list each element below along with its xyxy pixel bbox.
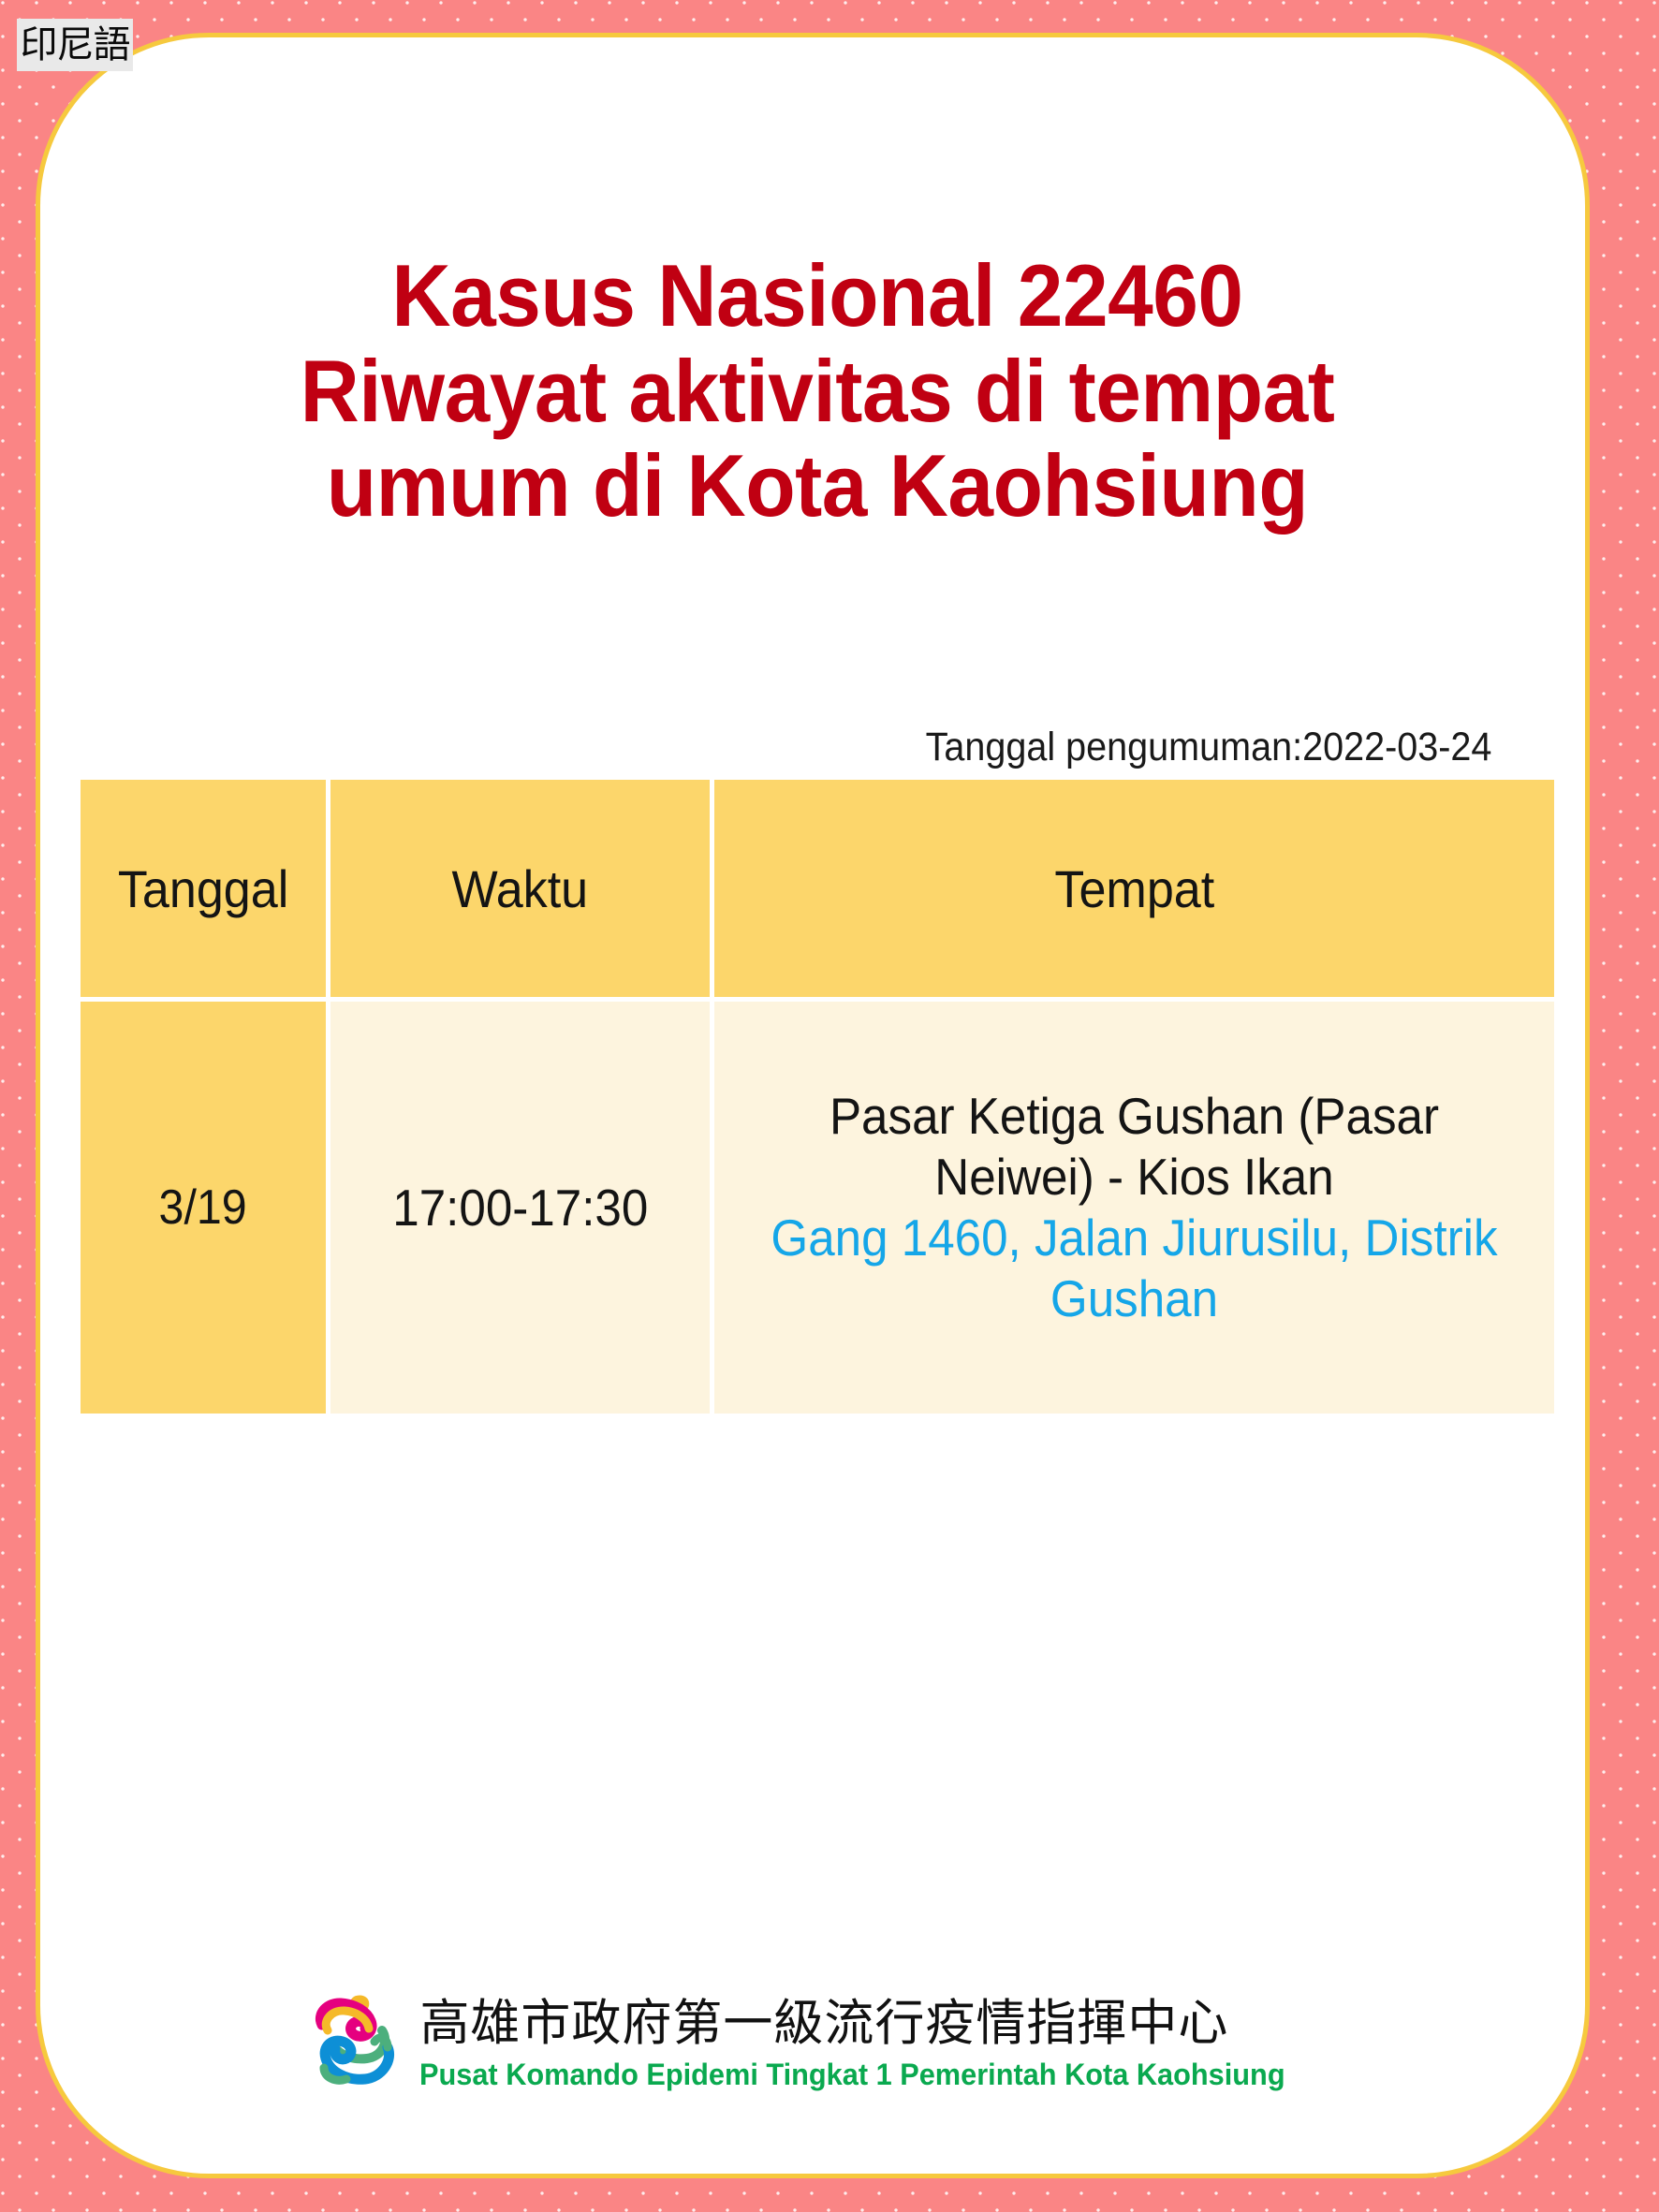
language-badge: 印尼語 (17, 19, 133, 71)
column-header-place-label: Tempat (1054, 858, 1214, 919)
kaohsiung-city-logo-icon (313, 1989, 399, 2100)
page-title-line-3: umum di Kota Kaohsiung (155, 438, 1479, 534)
white-content-card: Kasus Nasional 22460 Riwayat aktivitas d… (36, 33, 1590, 2178)
page-title-line-1: Kasus Nasional 22460 (155, 248, 1479, 344)
cell-date: 3/19 (81, 1002, 326, 1414)
column-header-date-label: Tanggal (118, 858, 288, 919)
cell-place-address: Gang 1460, Jalan Jiurusilu, Distrik Gush… (753, 1208, 1517, 1329)
table-header-row: Tanggal Waktu Tempat (81, 780, 1554, 997)
table-row: 3/19 17:00-17:30 Pasar Ketiga Gushan (Pa… (81, 1002, 1554, 1414)
cell-time: 17:00-17:30 (330, 1002, 710, 1414)
column-header-place: Tempat (714, 780, 1554, 997)
column-header-date: Tanggal (81, 780, 326, 997)
activity-history-table: Tanggal Waktu Tempat 3/19 17:00-17:30 (81, 780, 1554, 1414)
column-header-time-label: Waktu (452, 858, 589, 919)
footer-org-chinese: 高雄市政府第一級流行疫情指揮中心 (419, 1997, 1321, 2051)
footer-org-indonesian: Pusat Komando Epidemi Tingkat 1 Pemerint… (419, 2057, 1285, 2092)
page-title: Kasus Nasional 22460 Riwayat aktivitas d… (155, 248, 1479, 534)
footer: 高雄市政府第一級流行疫情指揮中心 Pusat Komando Epidemi T… (40, 1989, 1590, 2100)
column-header-time: Waktu (330, 780, 710, 997)
cell-place-name: Pasar Ketiga Gushan (Pasar Neiwei) - Kio… (753, 1086, 1517, 1208)
announcement-date: Tanggal pengumuman:2022-03-24 (925, 725, 1491, 770)
cell-place-content: Pasar Ketiga Gushan (Pasar Neiwei) - Kio… (753, 1086, 1517, 1329)
poster-background: Kasus Nasional 22460 Riwayat aktivitas d… (0, 0, 1659, 2212)
cell-place: Pasar Ketiga Gushan (Pasar Neiwei) - Kio… (714, 1002, 1554, 1414)
cell-time-value: 17:00-17:30 (392, 1178, 648, 1238)
footer-text-block: 高雄市政府第一級流行疫情指揮中心 Pusat Komando Epidemi T… (419, 1997, 1321, 2093)
cell-date-value: 3/19 (159, 1179, 247, 1236)
page-title-line-2: Riwayat aktivitas di tempat (155, 344, 1479, 439)
